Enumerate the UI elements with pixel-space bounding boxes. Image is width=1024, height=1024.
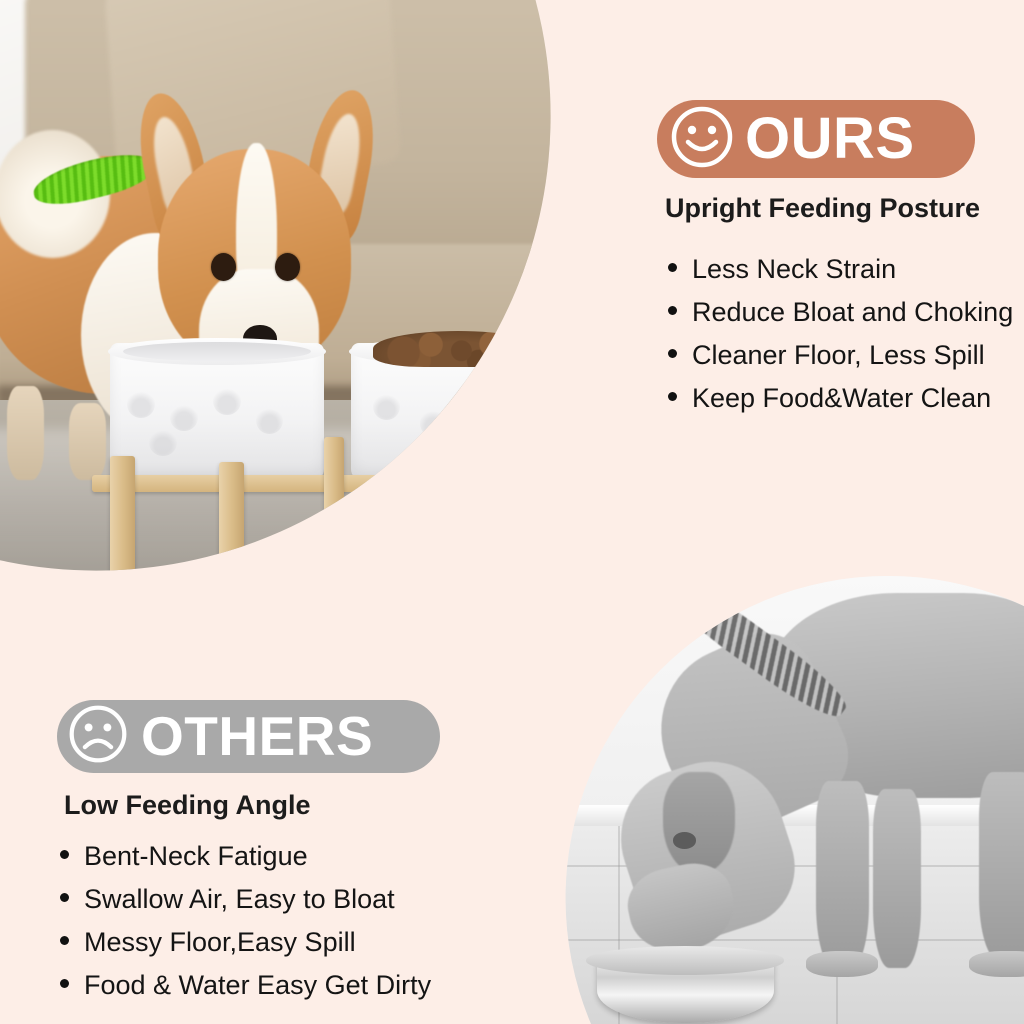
- dog-eye: [673, 832, 697, 849]
- list-item-label: Swallow Air, Easy to Bloat: [84, 886, 395, 913]
- list-item-label: Bent-Neck Fatigue: [84, 843, 308, 870]
- dog-paw: [969, 951, 1024, 977]
- list-item: Less Neck Strain: [668, 256, 1013, 283]
- bamboo-leg: [110, 456, 135, 637]
- dog-rear-leg: [69, 403, 106, 480]
- bullet-dot-icon: [668, 349, 677, 358]
- paw-print-emboss: [509, 409, 537, 436]
- ours-subheading: Upright Feeding Posture: [665, 193, 980, 224]
- ours-badge-label: OURS: [745, 110, 915, 168]
- paw-print-emboss: [256, 407, 284, 434]
- list-item: Cleaner Floor, Less Spill: [668, 342, 1013, 369]
- stainless-steel-floor-bowl: [597, 956, 774, 1024]
- bullet-dot-icon: [60, 936, 69, 945]
- bullet-dot-icon: [60, 850, 69, 859]
- list-item: Messy Floor,Easy Spill: [60, 929, 431, 956]
- ceramic-bowl-left: [110, 343, 324, 480]
- list-item: Bent-Neck Fatigue: [60, 843, 431, 870]
- list-item: Keep Food&Water Clean: [668, 385, 1013, 412]
- dog-front-leg: [7, 386, 44, 480]
- ceramic-bowl-right: [351, 343, 565, 480]
- dog-ear: [663, 772, 735, 874]
- dog-front-leg: [816, 781, 869, 969]
- bamboo-leg: [503, 456, 528, 643]
- paw-print-emboss: [170, 404, 198, 431]
- dog-food-kibble: [373, 331, 544, 367]
- bamboo-leg: [540, 462, 565, 637]
- list-item: Food & Water Easy Get Dirty: [60, 972, 431, 999]
- others-subheading: Low Feeding Angle: [64, 790, 311, 821]
- bullet-dot-icon: [60, 893, 69, 902]
- others-badge-label: OTHERS: [141, 709, 373, 764]
- paw-print-emboss: [467, 390, 495, 417]
- paw-print-emboss: [420, 409, 448, 436]
- paw-print-emboss: [213, 387, 241, 414]
- list-item: Reduce Bloat and Choking: [668, 299, 1013, 326]
- dog-bending-to-floor-bowl-photo: [524, 524, 1024, 1024]
- grayscale-dog: [586, 576, 1024, 1002]
- bullet-dot-icon: [668, 306, 677, 315]
- list-item-label: Less Neck Strain: [692, 256, 896, 283]
- list-item: Swallow Air, Easy to Bloat: [60, 886, 431, 913]
- corgi-eating-from-raised-bowls-photo: [0, 0, 650, 670]
- list-item-label: Reduce Bloat and Choking: [692, 299, 1013, 326]
- dog-hind-leg: [979, 772, 1024, 960]
- dog-paw: [806, 951, 878, 977]
- ours-badge: OURS: [657, 100, 975, 178]
- paw-print-emboss: [127, 390, 155, 417]
- dog-left-eye: [211, 253, 236, 281]
- living-room-scene: [0, 0, 650, 670]
- others-badge: OTHERS: [57, 700, 440, 773]
- list-item-label: Keep Food&Water Clean: [692, 385, 991, 412]
- bamboo-center-post: [324, 437, 344, 599]
- raised-bamboo-bowl-stand: [110, 343, 564, 655]
- bullet-dot-icon: [668, 263, 677, 272]
- bullet-dot-icon: [60, 979, 69, 988]
- paw-print-emboss: [149, 429, 177, 456]
- tiled-room-scene: [524, 524, 1024, 1024]
- list-item-label: Cleaner Floor, Less Spill: [692, 342, 985, 369]
- dog-front-leg: [873, 789, 921, 968]
- list-item-label: Messy Floor,Easy Spill: [84, 929, 356, 956]
- smiley-face-icon: [669, 104, 735, 175]
- bullet-dot-icon: [668, 392, 677, 401]
- bowl-rim: [586, 946, 784, 974]
- paw-print-emboss: [373, 393, 401, 420]
- ours-benefits-list: Less Neck Strain Reduce Bloat and Chokin…: [668, 256, 1013, 428]
- frowning-face-icon: [67, 703, 129, 770]
- bamboo-leg: [219, 462, 244, 606]
- others-drawbacks-list: Bent-Neck Fatigue Swallow Air, Easy to B…: [60, 843, 431, 1015]
- infographic-page: OURS Upright Feeding Posture Less Neck S…: [0, 0, 1024, 1024]
- list-item-label: Food & Water Easy Get Dirty: [84, 972, 431, 999]
